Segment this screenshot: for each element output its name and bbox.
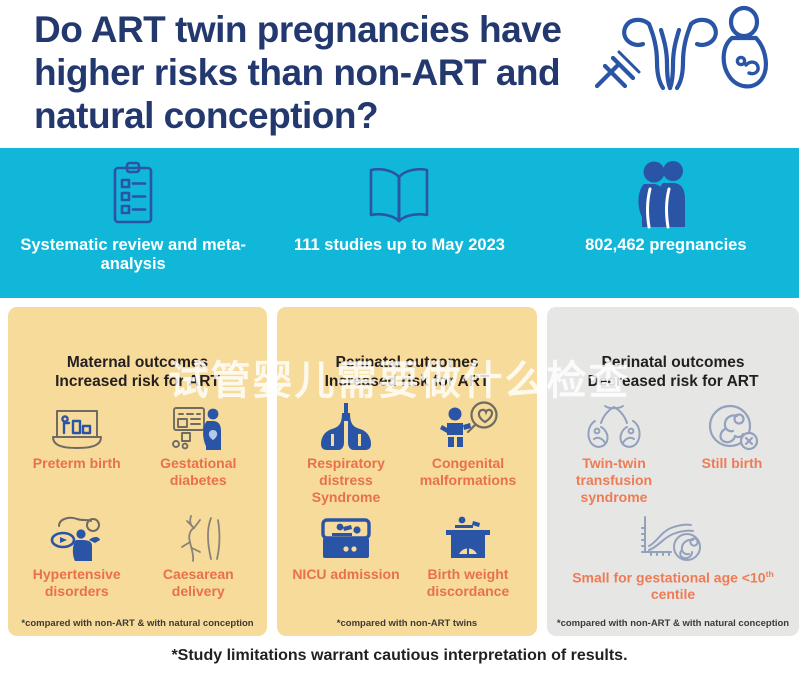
item-label: Caesarean delivery — [138, 566, 260, 600]
stat-label: 802,462 pregnancies — [585, 236, 746, 255]
footer-section: *Study limitations warrant cautious inte… — [0, 636, 799, 675]
header-icon-group — [587, 4, 777, 99]
item-label-post: centile — [651, 586, 695, 602]
item-label: Respiratory distress Syndrome — [285, 455, 407, 506]
card-footnote: *compared with non-ART & with natural co… — [16, 618, 259, 632]
item-congenital-malformations: Congenital malformations — [407, 397, 529, 508]
item-label: Gestational diabetes — [138, 455, 260, 489]
item-still-birth: Still birth — [673, 397, 791, 508]
header-section: Do ART twin pregnancies have higher risk… — [0, 0, 799, 148]
stat-label: 111 studies up to May 2023 — [294, 236, 505, 255]
item-label: Birth weight discordance — [407, 566, 529, 600]
outcome-cards: Maternal outcomes Increased risk for ART — [0, 298, 799, 636]
stat-studies: 111 studies up to May 2023 — [266, 158, 532, 255]
item-label: Small for gestational age <10th centile — [555, 566, 791, 604]
stat-systematic-review: Systematic review and meta-analysis — [0, 158, 266, 274]
open-book-icon — [366, 158, 432, 230]
glucose-test-pregnant-icon — [169, 397, 227, 451]
item-small-for-gestational-age: Small for gestational age <10th centile — [555, 508, 791, 619]
stat-label: Systematic review and meta-analysis — [0, 236, 266, 274]
item-label: Hypertensive disorders — [16, 566, 138, 600]
card-footnote: *compared with non-ART & with natural co… — [555, 618, 791, 632]
card-maternal-outcomes: Maternal outcomes Increased risk for ART — [8, 307, 267, 636]
baby-heart-magnifier-icon — [437, 397, 499, 451]
item-respiratory-distress: Respiratory distress Syndrome — [285, 397, 407, 508]
card-perinatal-increased: Perinatal outcomes Increased risk for AR… — [277, 307, 537, 636]
growth-chart-fetus-icon — [637, 508, 709, 562]
card-title: Maternal outcomes Increased risk for ART — [16, 353, 259, 391]
two-pregnant-figures-icon — [635, 158, 697, 230]
card-title: Perinatal outcomes Decreased risk for AR… — [555, 353, 791, 391]
item-gestational-diabetes: Gestational diabetes — [138, 397, 260, 508]
item-label: NICU admission — [292, 566, 399, 583]
item-label: Congenital malformations — [407, 455, 529, 489]
card-title-line1: Maternal outcomes — [67, 354, 208, 371]
uterus-syringe-icon — [587, 4, 777, 99]
twin-fetuses-shared-placenta-icon — [583, 397, 645, 451]
item-nicu-admission: NICU admission — [285, 508, 407, 619]
caesarean-scar-icon — [173, 508, 223, 562]
card-footnote: *compared with non-ART twins — [285, 618, 529, 632]
item-label-superscript: th — [766, 569, 774, 579]
card-items-grid: Twin-twin transfusion syndrome — [555, 397, 791, 618]
card-title-line2: Decreased risk for ART — [588, 373, 759, 390]
clipboard-checklist-icon — [107, 158, 159, 230]
card-title-line1: Perinatal outcomes — [336, 354, 479, 371]
item-caesarean-delivery: Caesarean delivery — [138, 508, 260, 619]
card-items-grid: Respiratory distress Syndrome — [285, 397, 529, 618]
item-hypertensive-disorders: Hypertensive disorders — [16, 508, 138, 619]
infographic-page: Do ART twin pregnancies have higher risk… — [0, 0, 799, 684]
card-title-line2: Increased risk for ART — [325, 373, 490, 390]
item-preterm-birth: Preterm birth — [16, 397, 138, 508]
baby-weight-scale-icon — [442, 508, 494, 562]
stats-band: Systematic review and meta-analysis 111 … — [0, 148, 799, 298]
item-label: Preterm birth — [33, 455, 121, 472]
item-birth-weight-discordance: Birth weight discordance — [407, 508, 529, 619]
stat-pregnancies: 802,462 pregnancies — [533, 158, 799, 255]
card-perinatal-decreased: Perinatal outcomes Decreased risk for AR… — [547, 307, 799, 636]
item-label: Still birth — [702, 455, 763, 472]
blood-pressure-pregnant-icon — [47, 508, 107, 562]
card-title-line2: Increased risk for ART — [55, 373, 220, 390]
nicu-incubator-icon — [318, 508, 374, 562]
card-title: Perinatal outcomes Increased risk for AR… — [285, 353, 529, 391]
stillbirth-cross-icon — [704, 397, 760, 451]
footer-disclaimer: *Study limitations warrant cautious inte… — [171, 647, 627, 665]
item-label-pre: Small for gestational age <10 — [572, 569, 765, 585]
card-title-line1: Perinatal outcomes — [602, 354, 745, 371]
incubator-monitor-icon — [50, 397, 104, 451]
item-twin-twin-transfusion: Twin-twin transfusion syndrome — [555, 397, 673, 508]
page-title: Do ART twin pregnancies have higher risk… — [34, 8, 614, 137]
lungs-icon — [318, 397, 374, 451]
card-items-grid: Preterm birth — [16, 397, 259, 618]
item-label: Twin-twin transfusion syndrome — [555, 455, 673, 506]
